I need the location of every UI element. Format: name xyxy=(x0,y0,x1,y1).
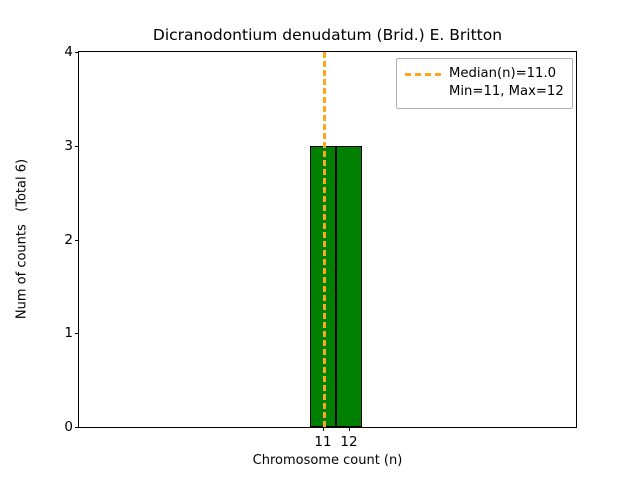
legend-median-dash-icon xyxy=(405,73,441,76)
y-tick-mark xyxy=(75,427,79,428)
y-tick-label: 2 xyxy=(64,232,73,248)
y-axis-label: Num of counts (Total 6) xyxy=(15,159,30,319)
chart-figure: Dicranodontium denudatum (Brid.) E. Brit… xyxy=(0,0,640,480)
y-tick-mark xyxy=(75,240,79,241)
y-tick-label: 4 xyxy=(64,44,73,60)
y-tick-mark xyxy=(75,52,79,53)
legend-item-median: Median(n)=11.0 xyxy=(449,65,564,83)
median-line xyxy=(323,52,326,427)
legend: Median(n)=11.0 Min=11, Max=12 xyxy=(396,58,573,109)
y-tick-label: 3 xyxy=(64,138,73,154)
y-tick-mark xyxy=(75,146,79,147)
legend-text-block: Median(n)=11.0 Min=11, Max=12 xyxy=(449,65,564,101)
y-tick-mark xyxy=(75,333,79,334)
x-tick-label: 12 xyxy=(340,434,357,450)
y-tick-label: 0 xyxy=(64,419,73,435)
x-tick-mark xyxy=(349,427,350,431)
bar-12 xyxy=(336,146,362,427)
x-tick-label: 11 xyxy=(314,434,331,450)
x-axis-label: Chromosome count (n) xyxy=(78,453,577,468)
chart-title: Dicranodontium denudatum (Brid.) E. Brit… xyxy=(78,26,577,45)
x-tick-mark xyxy=(323,427,324,431)
legend-item-minmax: Min=11, Max=12 xyxy=(449,83,564,101)
y-tick-label: 1 xyxy=(64,325,73,341)
